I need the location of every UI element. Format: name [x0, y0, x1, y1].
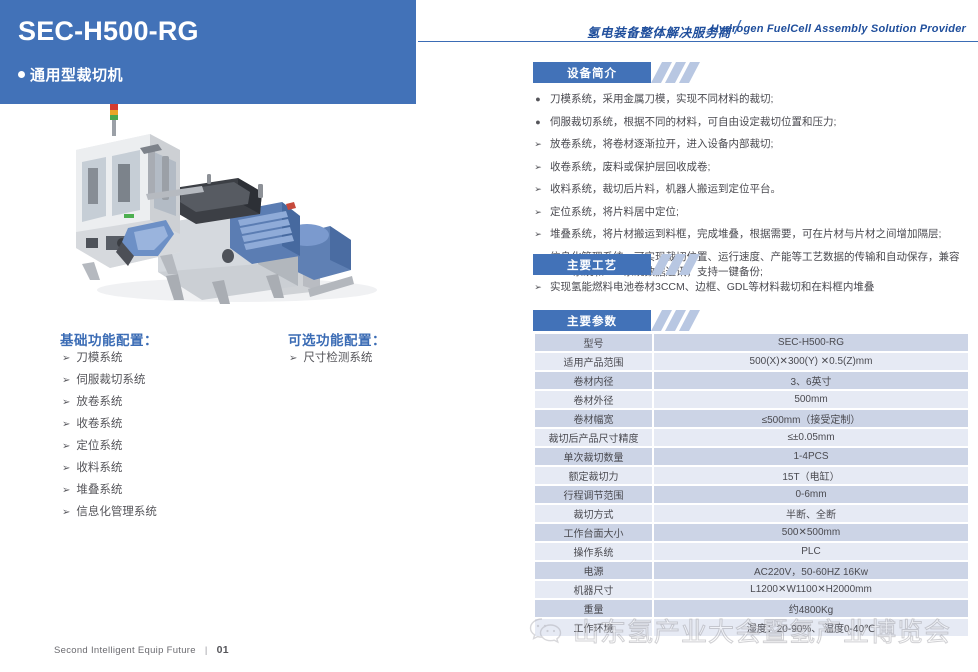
parameter-name-cell: 行程调节范围 [535, 486, 652, 503]
table-row: 卷材外径500mm [535, 391, 968, 408]
parameter-name-cell: 工作台面大小 [535, 524, 652, 541]
basic-config-list: ➢刀模系统➢伺服裁切系统➢放卷系统➢收卷系统➢定位系统➢收料系统➢堆叠系统➢信息… [62, 350, 157, 526]
arrow-bullet-icon: ➢ [533, 137, 543, 152]
dot-bullet-icon: ● [533, 92, 543, 107]
intro-item-label: 放卷系统，将卷材逐渐拉开，进入设备内部裁切; [550, 137, 973, 152]
arrow-bullet-icon: ➢ [62, 372, 70, 389]
parameter-value-cell: 500(X)✕300(Y) ✕0.5(Z)mm [654, 353, 968, 370]
basic-config-heading: 基础功能配置： [60, 329, 158, 349]
basic-config-item-label: 收料系统 [76, 460, 122, 477]
parameter-name-cell: 机器尺寸 [535, 581, 652, 598]
table-row: 型号SEC-H500-RG [535, 334, 968, 351]
arrow-bullet-icon: ➢ [62, 416, 70, 433]
table-row: 裁切后产品尺寸精度≤±0.05mm [535, 429, 968, 446]
dot-bullet-icon: ● [533, 115, 543, 130]
parameter-value-cell: PLC [654, 543, 968, 560]
parameters-table: 型号SEC-H500-RG适用产品范围500(X)✕300(Y) ✕0.5(Z)… [533, 332, 970, 638]
intro-item-label: 伺服裁切系统，根据不同的材料，可自由设定裁切位置和压力; [550, 115, 973, 130]
section-stripes-decor [651, 254, 709, 275]
arrow-bullet-icon: ➢ [62, 482, 70, 499]
table-row: 单次裁切数量1-4PCS [535, 448, 968, 465]
basic-config-item: ➢伺服裁切系统 [62, 372, 157, 389]
section-stripes-decor [651, 310, 709, 331]
wechat-icon [529, 616, 563, 646]
parameter-name-cell: 卷材外径 [535, 391, 652, 408]
process-item-label: 实现氢能燃料电池卷材3CCM、边框、GDL等材料裁切和在料框内堆叠 [550, 280, 973, 295]
table-row: 适用产品范围500(X)✕300(Y) ✕0.5(Z)mm [535, 353, 968, 370]
process-bullet-list: ➢实现氢能燃料电池卷材3CCM、边框、GDL等材料裁切和在料框内堆叠 [533, 280, 973, 303]
basic-config-item: ➢刀模系统 [62, 350, 157, 367]
parameter-name-cell: 电源 [535, 562, 652, 579]
brand-tagline-en: Hydrogen FuelCell Assembly Solution Prov… [711, 23, 966, 35]
table-row: 工作台面大小500✕500mm [535, 524, 968, 541]
intro-item-label: 收料系统，裁切后片料，机器人搬运到定位平台。 [550, 182, 973, 197]
event-watermark: 山东氢产业大会暨氢产业博览会 [529, 612, 951, 649]
parameter-value-cell: 500✕500mm [654, 524, 968, 541]
basic-config-item-label: 堆叠系统 [76, 482, 122, 499]
product-header-banner: SEC-H500-RG 通用型裁切机 [0, 0, 416, 104]
parameter-name-cell: 裁切后产品尺寸精度 [535, 429, 652, 446]
intro-item: ➢收卷系统，废料或保护层回收成卷; [533, 160, 973, 175]
parameter-value-cell: 1-4PCS [654, 448, 968, 465]
parameter-name-cell: 适用产品范围 [535, 353, 652, 370]
optional-config-list: ➢尺寸检测系统 [289, 350, 372, 372]
optional-config-item-label: 尺寸检测系统 [303, 350, 372, 367]
parameter-value-cell: 0-6mm [654, 486, 968, 503]
parameter-value-cell: 半断、全断 [654, 505, 968, 522]
parameter-value-cell: L1200✕W1100✕H2000mm [654, 581, 968, 598]
basic-config-item: ➢堆叠系统 [62, 482, 157, 499]
arrow-bullet-icon: ➢ [533, 182, 543, 197]
arrow-bullet-icon: ➢ [62, 394, 70, 411]
arrow-bullet-icon: ➢ [533, 205, 543, 220]
page-number: 01 [217, 644, 229, 656]
parameter-value-cell: SEC-H500-RG [654, 334, 968, 351]
brand-divider [418, 41, 978, 42]
parameter-name-cell: 单次裁切数量 [535, 448, 652, 465]
parameter-name-cell: 裁切方式 [535, 505, 652, 522]
product-subtitle-label: 通用型裁切机 [30, 64, 123, 85]
basic-config-item-label: 信息化管理系统 [76, 504, 157, 521]
parameter-name-cell: 型号 [535, 334, 652, 351]
arrow-bullet-icon: ➢ [62, 438, 70, 455]
footer-slogan: Second Intelligent Equip Future [54, 645, 196, 656]
arrow-bullet-icon: ➢ [289, 350, 297, 367]
table-row: 电源AC220V，50-60HZ 16Kw [535, 562, 968, 579]
table-row: 卷材内径3、6英寸 [535, 372, 968, 389]
intro-item: ➢定位系统，将片料居中定位; [533, 205, 973, 220]
footer-separator: | [205, 645, 208, 656]
intro-item: ➢收料系统，裁切后片料，机器人搬运到定位平台。 [533, 182, 973, 197]
parameter-name-cell: 卷材内径 [535, 372, 652, 389]
table-row: 卷材幅宽≤500mm（接受定制） [535, 410, 968, 427]
section-header-process-label: 主要工艺 [533, 254, 651, 275]
machine-render-image [62, 104, 414, 316]
intro-item-label: 堆叠系统，将片材搬运到料框，完成堆叠，根据需要，可在片材与片材之间增加隔层; [550, 227, 973, 242]
bullet-dot-icon [18, 71, 25, 78]
basic-config-item: ➢定位系统 [62, 438, 157, 455]
parameter-name-cell: 额定裁切力 [535, 467, 652, 484]
parameter-value-cell: ≤±0.05mm [654, 429, 968, 446]
watermark-text: 山东氢产业大会暨氢产业博览会 [573, 612, 951, 649]
brand-tagline-cn: 氢电装备整体解决服务商 [587, 22, 731, 41]
right-page: 氢电装备整体解决服务商 / Hydrogen FuelCell Assembly… [489, 0, 978, 672]
section-header-intro-label: 设备简介 [533, 62, 651, 83]
product-subtitle: 通用型裁切机 [18, 64, 123, 85]
basic-config-item: ➢放卷系统 [62, 394, 157, 411]
table-row: 操作系统PLC [535, 543, 968, 560]
arrow-bullet-icon: ➢ [62, 460, 70, 477]
optional-config-item: ➢尺寸检测系统 [289, 350, 372, 367]
basic-config-item-label: 刀模系统 [76, 350, 122, 367]
parameter-name-cell: 操作系统 [535, 543, 652, 560]
footer-left: Second Intelligent Equip Future | 01 [54, 644, 229, 656]
intro-item-label: 定位系统，将片料居中定位; [550, 205, 973, 220]
parameter-value-cell: 3、6英寸 [654, 372, 968, 389]
table-row: 机器尺寸L1200✕W1100✕H2000mm [535, 581, 968, 598]
intro-item-label: 刀模系统，采用金属刀模，实现不同材料的裁切; [550, 92, 973, 107]
table-row: 额定裁切力15T（电缸） [535, 467, 968, 484]
left-page: SEC-H500-RG 通用型裁切机 [0, 0, 489, 672]
optional-config-heading: 可选功能配置： [288, 329, 386, 349]
arrow-bullet-icon: ➢ [62, 350, 70, 367]
arrow-bullet-icon: ➢ [533, 160, 543, 175]
intro-item-label: 收卷系统，废料或保护层回收成卷; [550, 160, 973, 175]
basic-config-item: ➢收料系统 [62, 460, 157, 477]
parameter-name-cell: 卷材幅宽 [535, 410, 652, 427]
table-row: 行程调节范围0-6mm [535, 486, 968, 503]
parameter-value-cell: ≤500mm（接受定制） [654, 410, 968, 427]
table-row: 裁切方式半断、全断 [535, 505, 968, 522]
arrow-bullet-icon: ➢ [533, 280, 543, 295]
parameter-value-cell: AC220V，50-60HZ 16Kw [654, 562, 968, 579]
parameter-value-cell: 500mm [654, 391, 968, 408]
intro-item: ➢堆叠系统，将片材搬运到料框，完成堆叠，根据需要，可在片材与片材之间增加隔层; [533, 227, 973, 242]
section-header-params-label: 主要参数 [533, 310, 651, 331]
intro-item: ➢放卷系统，将卷材逐渐拉开，进入设备内部裁切; [533, 137, 973, 152]
process-item: ➢实现氢能燃料电池卷材3CCM、边框、GDL等材料裁切和在料框内堆叠 [533, 280, 973, 295]
basic-config-item-label: 放卷系统 [76, 394, 122, 411]
brochure-page-spread: SEC-H500-RG 通用型裁切机 [0, 0, 978, 672]
basic-config-item: ➢信息化管理系统 [62, 504, 157, 521]
parameter-value-cell: 15T（电缸） [654, 467, 968, 484]
parameters-table-body: 型号SEC-H500-RG适用产品范围500(X)✕300(Y) ✕0.5(Z)… [535, 334, 968, 636]
arrow-bullet-icon: ➢ [533, 227, 543, 242]
section-stripes-decor [651, 62, 709, 83]
arrow-bullet-icon: ➢ [62, 504, 70, 521]
basic-config-item-label: 定位系统 [76, 438, 122, 455]
basic-config-item: ➢收卷系统 [62, 416, 157, 433]
machine-illustration [62, 104, 414, 316]
intro-item: ●刀模系统，采用金属刀模，实现不同材料的裁切; [533, 92, 973, 107]
page-title: SEC-H500-RG [18, 16, 199, 47]
basic-config-item-label: 伺服裁切系统 [76, 372, 145, 389]
intro-item: ●伺服裁切系统，根据不同的材料，可自由设定裁切位置和压力; [533, 115, 973, 130]
basic-config-item-label: 收卷系统 [76, 416, 122, 433]
